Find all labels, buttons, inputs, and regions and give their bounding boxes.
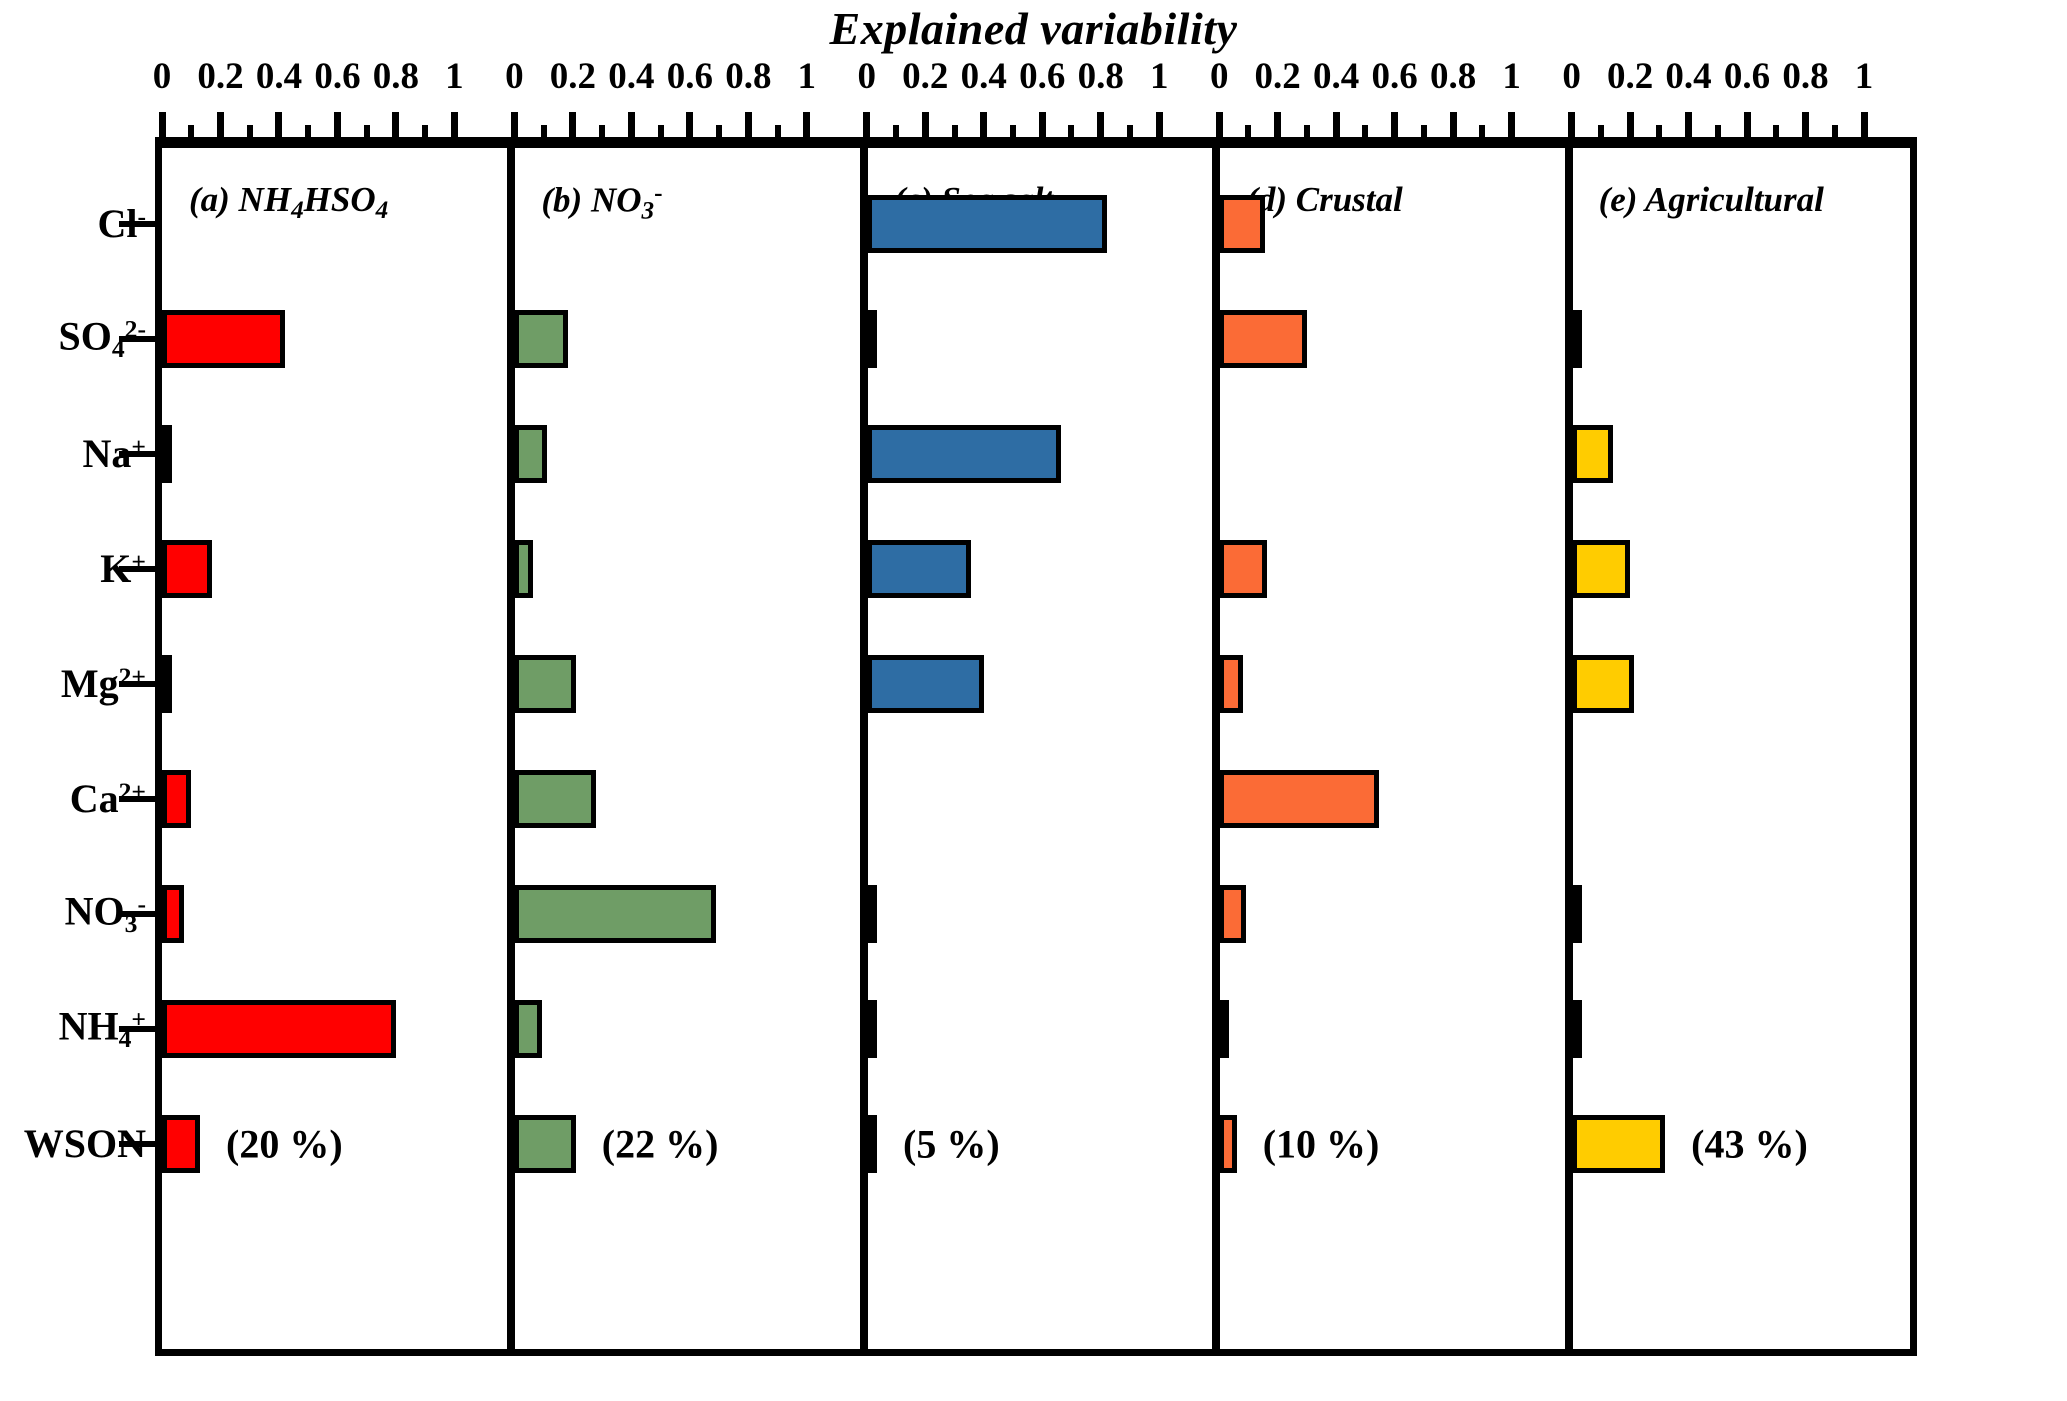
bar	[1572, 1115, 1666, 1173]
bar	[514, 885, 716, 943]
panel-percent-label: (43 %)	[1691, 1121, 1808, 1168]
x-tick-label: 0.4	[1665, 55, 1711, 98]
y-tick	[119, 796, 155, 802]
x-tick-label: 0.8	[373, 55, 419, 98]
x-tick-label: 0	[858, 55, 877, 98]
x-tick-label: 0.8	[1430, 55, 1476, 98]
x-tick-major	[1508, 112, 1515, 144]
plot-frame	[155, 141, 1917, 1356]
bar	[1219, 885, 1245, 943]
y-tick	[119, 1026, 155, 1032]
y-tick	[119, 451, 155, 457]
bar	[514, 310, 568, 368]
bar	[514, 540, 533, 598]
bar	[1572, 540, 1630, 598]
x-tick-major	[1274, 112, 1281, 144]
panel-percent-label: (20 %)	[226, 1121, 343, 1168]
x-tick-major	[628, 112, 635, 144]
bar	[514, 770, 596, 828]
panel-percent-label: (5 %)	[903, 1121, 1000, 1168]
x-tick-label: 0.6	[1019, 55, 1065, 98]
x-tick-label: 1	[445, 55, 464, 98]
x-tick-major	[1685, 112, 1692, 144]
x-tick-major	[1039, 112, 1046, 144]
x-tick-major	[1802, 112, 1809, 144]
x-tick-label: 1	[1855, 55, 1874, 98]
x-tick-label: 1	[1502, 55, 1521, 98]
x-tick-major	[1097, 112, 1104, 144]
x-tick-major	[1861, 112, 1868, 144]
x-tick-major	[334, 112, 341, 144]
x-tick-major	[1391, 112, 1398, 144]
y-tick	[119, 221, 155, 227]
y-tick	[119, 681, 155, 687]
bar	[1219, 195, 1264, 253]
x-tick-major	[159, 112, 166, 144]
bar	[867, 1115, 877, 1173]
x-tick-major	[569, 112, 576, 144]
panel-caption-1: (a) NH4HSO4	[189, 180, 388, 225]
x-tick-major	[1450, 112, 1457, 144]
x-tick-label: 0.4	[961, 55, 1007, 98]
x-tick-major	[980, 112, 987, 144]
bar	[1219, 540, 1267, 598]
bar	[867, 195, 1107, 253]
x-tick-major	[686, 112, 693, 144]
x-tick-label: 0	[1562, 55, 1581, 98]
bar	[162, 770, 191, 828]
x-tick-major	[1216, 112, 1223, 144]
x-tick-label: 1	[798, 55, 817, 98]
x-tick-label: 0.8	[725, 55, 771, 98]
x-tick-label: 0.8	[1782, 55, 1828, 98]
panel-percent-label: (22 %)	[602, 1121, 719, 1168]
bar	[1219, 1000, 1229, 1058]
x-tick-label: 0	[1210, 55, 1229, 98]
x-tick-label: 0.4	[608, 55, 654, 98]
chart-root: Explained variability 00.20.40.60.8100.2…	[0, 0, 2067, 1401]
bar	[867, 885, 877, 943]
bar	[162, 1115, 200, 1173]
x-tick-major	[275, 112, 282, 144]
x-tick-label: 0.2	[197, 55, 243, 98]
x-tick-label: 0.2	[550, 55, 596, 98]
panel-caption-2: (b) NO3-	[541, 180, 662, 226]
x-tick-label: 0	[505, 55, 524, 98]
x-tick-label: 0.6	[1724, 55, 1770, 98]
chart-title: Explained variability	[0, 2, 2067, 55]
panel-caption-5: (e) Agricultural	[1599, 180, 1824, 220]
bar	[1572, 1000, 1582, 1058]
x-tick-major	[1156, 112, 1163, 144]
bar	[162, 540, 212, 598]
panel-percent-label: (10 %)	[1263, 1121, 1380, 1168]
bar	[514, 425, 546, 483]
bar	[867, 310, 877, 368]
x-tick-label: 0.2	[902, 55, 948, 98]
bar	[162, 1000, 396, 1058]
x-tick-major	[217, 112, 224, 144]
x-tick-major	[1744, 112, 1751, 144]
x-tick-major	[392, 112, 399, 144]
bar	[867, 1000, 877, 1058]
x-tick-label: 0.6	[1372, 55, 1418, 98]
x-tick-label: 1	[1150, 55, 1169, 98]
x-tick-major	[1568, 112, 1575, 144]
x-tick-major	[451, 112, 458, 144]
x-tick-major	[745, 112, 752, 144]
bar	[1219, 310, 1307, 368]
bar	[514, 1115, 575, 1173]
x-axis-ruler	[0, 110, 2067, 144]
bar	[514, 1000, 542, 1058]
x-tick-label: 0.2	[1255, 55, 1301, 98]
x-tick-label: 0.4	[256, 55, 302, 98]
bar	[162, 425, 172, 483]
x-axis-tick-labels: 00.20.40.60.8100.20.40.60.8100.20.40.60.…	[0, 55, 2067, 97]
panel-caption-4: (d) Crustal	[1246, 180, 1403, 220]
x-tick-label: 0.6	[667, 55, 713, 98]
bar	[162, 310, 285, 368]
bar	[162, 885, 184, 943]
bar	[867, 540, 971, 598]
bar	[1219, 1115, 1237, 1173]
bar	[1572, 310, 1582, 368]
x-tick-label: 0.8	[1078, 55, 1124, 98]
x-tick-major	[803, 112, 810, 144]
bar	[162, 655, 172, 713]
bar	[867, 655, 984, 713]
bar	[1572, 885, 1582, 943]
x-tick-label: 0.4	[1313, 55, 1359, 98]
bar	[1572, 425, 1613, 483]
y-tick	[119, 336, 155, 342]
bar	[1219, 770, 1378, 828]
x-tick-label: 0	[153, 55, 172, 98]
x-tick-major	[1333, 112, 1340, 144]
y-tick	[119, 911, 155, 917]
x-tick-label: 0.6	[314, 55, 360, 98]
bar	[1572, 655, 1635, 713]
x-tick-label: 0.2	[1607, 55, 1653, 98]
bar	[1219, 655, 1242, 713]
bar	[514, 655, 575, 713]
x-tick-major	[922, 112, 929, 144]
x-tick-major	[1627, 112, 1634, 144]
x-tick-major	[863, 112, 870, 144]
x-tick-major	[511, 112, 518, 144]
y-tick	[119, 566, 155, 572]
y-tick	[119, 1141, 155, 1147]
bar	[867, 425, 1061, 483]
